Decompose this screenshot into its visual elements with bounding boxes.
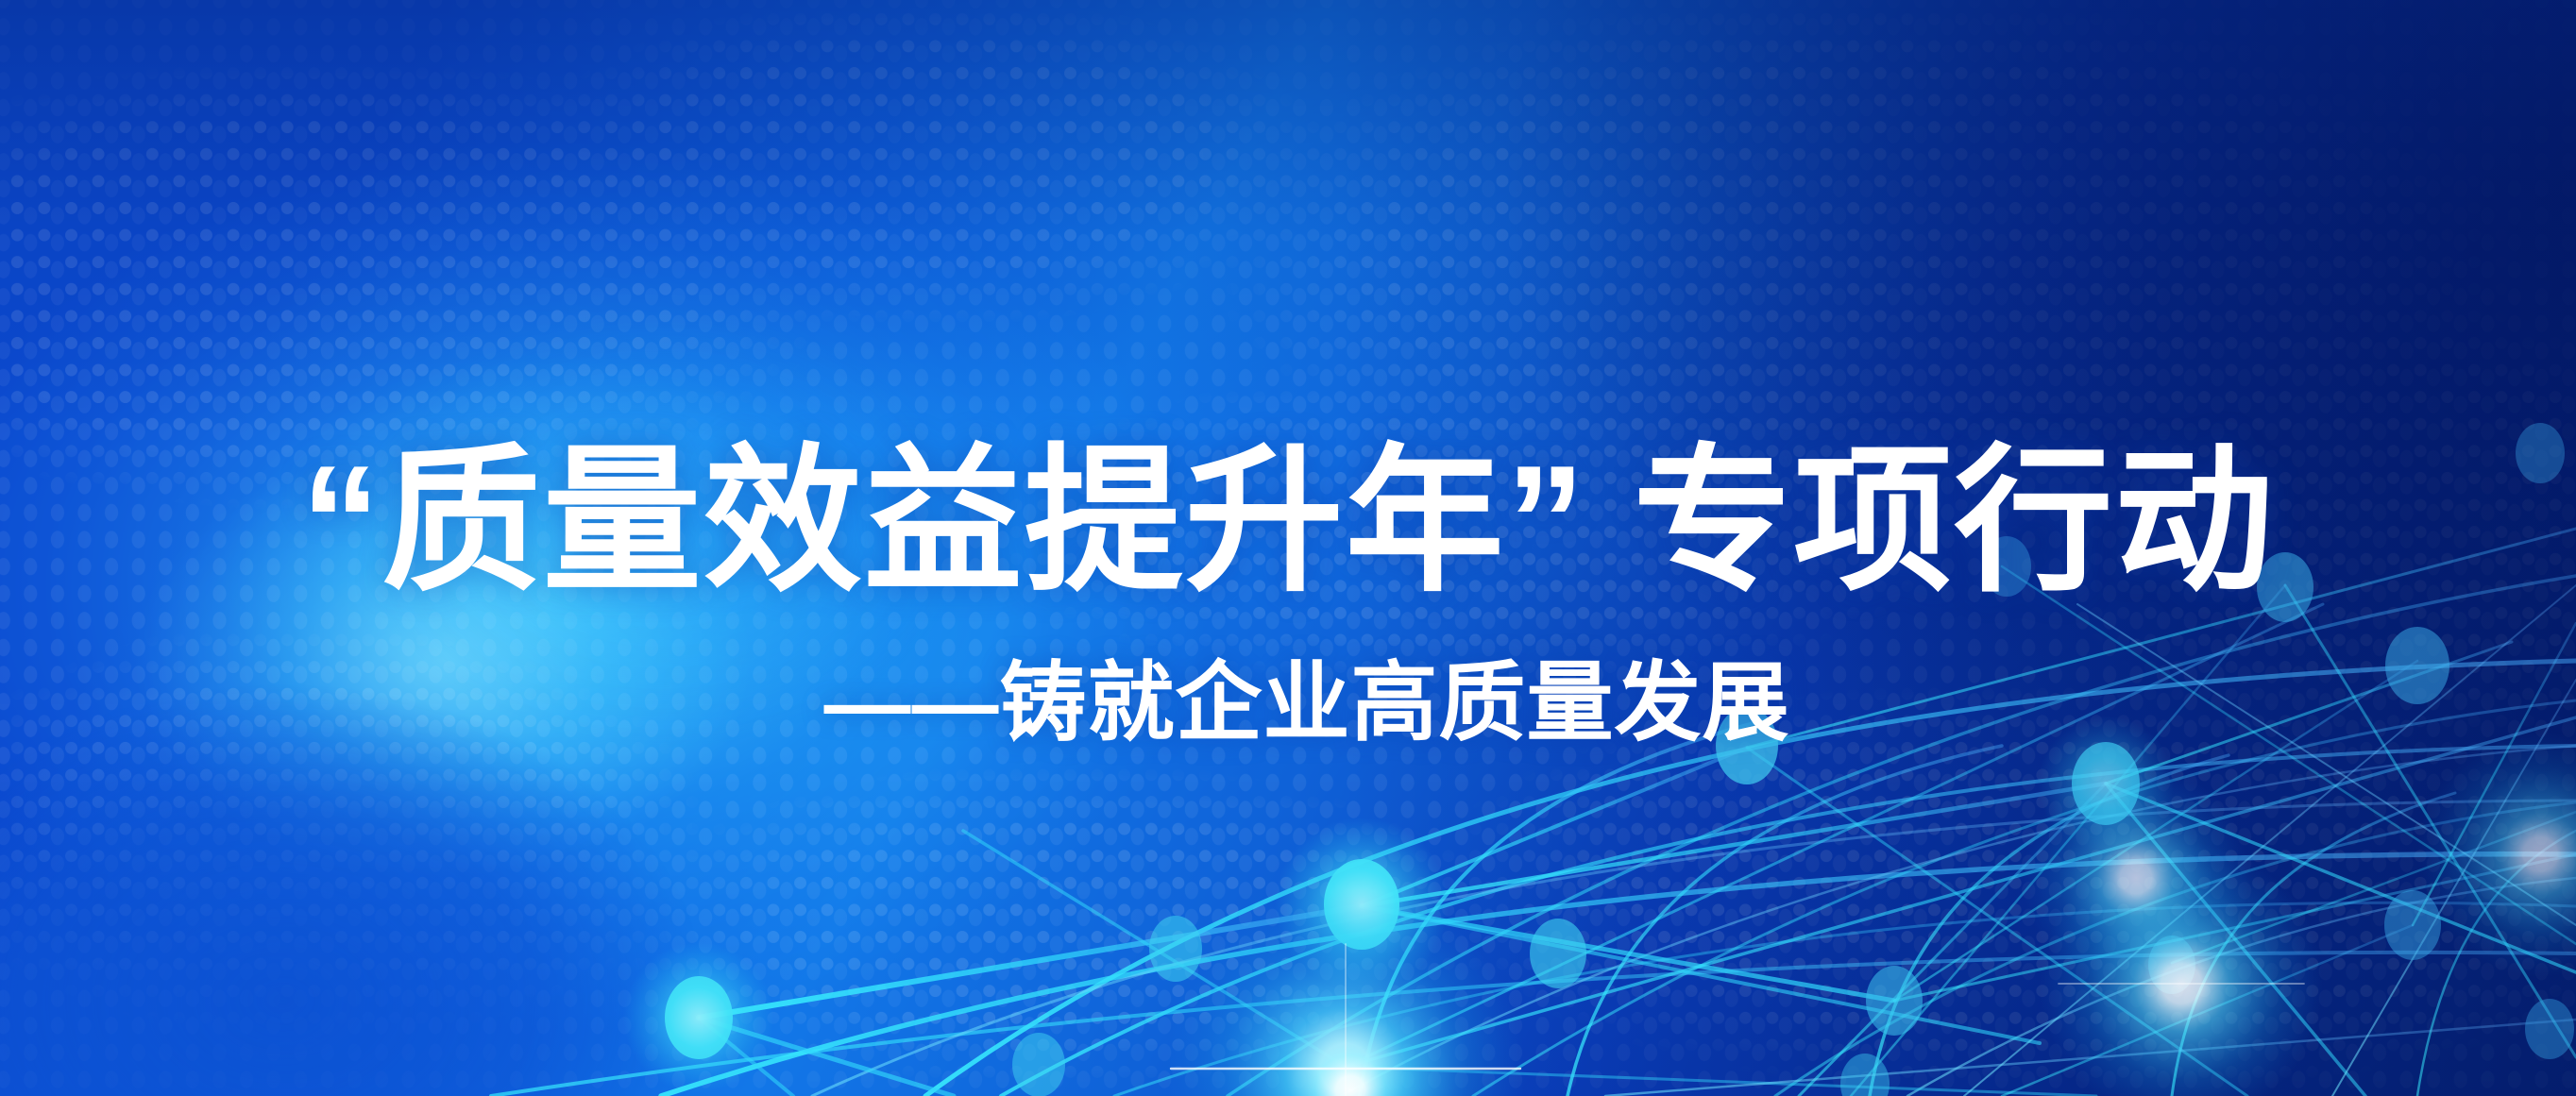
banner-subtitle: ——铸就企业高质量发展 [0,655,2576,752]
promotional-banner: “质量效益提升年” 专项行动 ——铸就企业高质量发展 [0,0,2576,1096]
banner-title: “质量效益提升年” 专项行动 [0,442,2576,600]
banner-text-block: “质量效益提升年” 专项行动 ——铸就企业高质量发展 [0,0,2576,1096]
